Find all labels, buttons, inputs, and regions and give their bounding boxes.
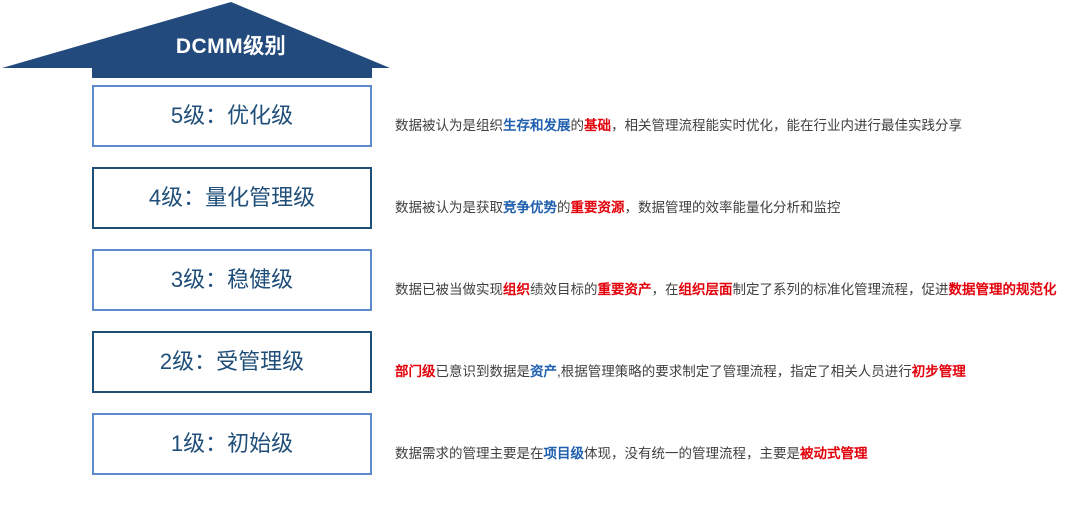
highlight-red: 组织 (503, 282, 530, 297)
description-row-1: 数据需求的管理主要是在项目级体现，没有统一的管理流程，主要是被动式管理 (395, 413, 1065, 495)
text-run: ，相关管理流程能实时优化，能在行业内进行最佳实践分享 (611, 118, 962, 133)
description-text-4: 数据被认为是获取竞争优势的重要资源，数据管理的效率能量化分析和监控 (395, 197, 841, 219)
level-label-2: 2级：受管理级 (160, 351, 304, 373)
highlight-blue: 资产 (530, 364, 557, 379)
highlight-red: 数据管理的规范化 (949, 282, 1057, 297)
highlight-red: 重要资产 (598, 282, 652, 297)
text-run: ，在 (652, 282, 679, 297)
level-box-3[interactable]: 3级：稳健级 (92, 249, 372, 311)
level-box-4[interactable]: 4级：量化管理级 (92, 167, 372, 229)
text-run: 的 (557, 200, 571, 215)
text-run: ，数据管理的效率能量化分析和监控 (625, 200, 841, 215)
highlight-blue: 生存和发展 (503, 118, 571, 133)
level-label-1: 1级：初始级 (171, 433, 293, 455)
highlight-blue: 竞争优势 (503, 200, 557, 215)
highlight-red: 被动式管理 (800, 446, 868, 461)
description-row-4: 数据被认为是获取竞争优势的重要资源，数据管理的效率能量化分析和监控 (395, 167, 1065, 249)
level-label-5: 5级：优化级 (171, 105, 293, 127)
level-box-1[interactable]: 1级：初始级 (92, 413, 372, 475)
highlight-red: 部门级 (395, 364, 436, 379)
level-label-4: 4级：量化管理级 (149, 187, 315, 209)
highlight-blue: 项目级 (544, 446, 585, 461)
description-text-2: 部门级已意识到数据是资产,根据管理策略的要求制定了管理流程，指定了相关人员进行初… (395, 361, 966, 383)
highlight-red: 重要资源 (571, 200, 625, 215)
text-run: 的 (571, 118, 585, 133)
text-run: 数据已被当做实现 (395, 282, 503, 297)
text-run: 体现，没有统一的管理流程，主要是 (584, 446, 800, 461)
highlight-red: 组织层面 (679, 282, 733, 297)
dcmm-maturity-diagram: DCMM级别 5级：优化级 4级：量化管理级 3级：稳健级 2级：受管理级 1级… (0, 0, 1080, 508)
text-run: 数据被认为是获取 (395, 200, 503, 215)
description-row-2: 部门级已意识到数据是资产,根据管理策略的要求制定了管理流程，指定了相关人员进行初… (395, 331, 1065, 413)
dcmm-banner: DCMM级别 (0, 0, 400, 78)
level-label-3: 3级：稳健级 (171, 269, 293, 291)
level-box-5[interactable]: 5级：优化级 (92, 85, 372, 147)
text-run: 已意识到数据是 (436, 364, 531, 379)
level-box-2[interactable]: 2级：受管理级 (92, 331, 372, 393)
text-run: ,根据管理策略的要求制定了管理流程，指定了相关人员进行 (557, 364, 912, 379)
description-text-3: 数据已被当做实现组织绩效目标的重要资产，在组织层面制定了系列的标准化管理流程，促… (395, 279, 1057, 301)
description-text-1: 数据需求的管理主要是在项目级体现，没有统一的管理流程，主要是被动式管理 (395, 443, 868, 465)
description-text-5: 数据被认为是组织生存和发展的基础，相关管理流程能实时优化，能在行业内进行最佳实践… (395, 115, 962, 137)
text-run: 制定了系列的标准化管理流程，促进 (733, 282, 949, 297)
level-box-column: 5级：优化级 4级：量化管理级 3级：稳健级 2级：受管理级 1级：初始级 (92, 85, 372, 495)
highlight-red: 初步管理 (912, 364, 966, 379)
description-row-3: 数据已被当做实现组织绩效目标的重要资产，在组织层面制定了系列的标准化管理流程，促… (395, 249, 1065, 331)
text-run: 绩效目标的 (530, 282, 598, 297)
text-run: 数据被认为是组织 (395, 118, 503, 133)
description-row-5: 数据被认为是组织生存和发展的基础，相关管理流程能实时优化，能在行业内进行最佳实践… (395, 85, 1065, 167)
banner-title: DCMM级别 (92, 36, 370, 57)
highlight-red: 基础 (584, 118, 611, 133)
text-run: 数据需求的管理主要是在 (395, 446, 544, 461)
level-description-column: 数据被认为是组织生存和发展的基础，相关管理流程能实时优化，能在行业内进行最佳实践… (395, 85, 1065, 495)
